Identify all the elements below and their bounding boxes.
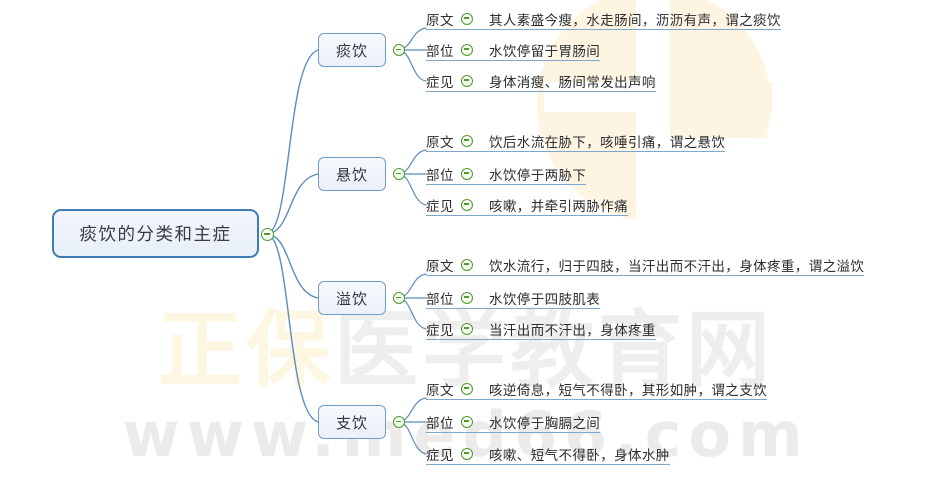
leaf-toggle-slot: [461, 323, 473, 335]
leaf-collapse-toggle[interactable]: [461, 13, 473, 25]
leaf-row[interactable]: 部位 水饮停于两胁下: [426, 163, 586, 185]
leaf-value: 饮水流行，归于四肢，当汗出而不汗出，身体疼重，谓之溢饮: [489, 255, 864, 275]
leaf-collapse-toggle[interactable]: [461, 323, 473, 335]
leaf-row[interactable]: 部位 水饮停于四肢肌表: [426, 287, 600, 309]
leaf-collapse-toggle[interactable]: [461, 416, 473, 428]
leaf-row[interactable]: 原文 饮后水流在胁下，咳唾引痛，谓之悬饮: [426, 130, 725, 152]
leaf-row[interactable]: 原文 其人素盛今瘦，水走肠间，沥沥有声，谓之痰饮: [426, 8, 781, 30]
leaf-value: 当汗出而不汗出，身体疼重: [489, 319, 656, 339]
leaf-value: 身体消瘦、肠间常发出声响: [489, 71, 656, 91]
leaf-row[interactable]: 部位 水饮停留于胃肠间: [426, 39, 600, 61]
leaf-key: 症见: [426, 195, 454, 215]
mindmap-canvas: 正保医学教育网 www.med66.com: [0, 0, 932, 480]
root-collapse-toggle[interactable]: [261, 228, 274, 241]
leaf-toggle-slot: [461, 448, 473, 460]
leaf-key: 部位: [426, 288, 454, 308]
branch-node-4[interactable]: 支饮: [318, 405, 386, 439]
leaf-value: 咳嗽，并牵引两胁作痛: [489, 195, 628, 215]
leaf-value: 水饮停留于胃肠间: [489, 40, 600, 60]
leaf-value: 咳嗽、短气不得卧，身体水肿: [489, 444, 670, 464]
leaf-key: 原文: [426, 131, 454, 151]
branch-1-collapse-toggle[interactable]: [393, 44, 405, 56]
branch-node-label: 痰饮: [336, 40, 368, 61]
node-layer: 痰饮的分类和主症 痰饮 原文 其人素盛今瘦，水走肠间，沥沥有声，谓之痰饮 部位 …: [0, 0, 932, 480]
root-node-label: 痰饮的分类和主症: [80, 221, 232, 246]
leaf-toggle-slot: [461, 75, 473, 87]
leaf-collapse-toggle[interactable]: [461, 448, 473, 460]
branch-3-collapse-toggle[interactable]: [393, 292, 405, 304]
leaf-toggle-slot: [461, 135, 473, 147]
branch-node-label: 悬饮: [336, 164, 368, 185]
leaf-key: 症见: [426, 444, 454, 464]
leaf-toggle-slot: [461, 168, 473, 180]
leaf-toggle-slot: [461, 13, 473, 25]
leaf-row[interactable]: 部位 水饮停于胸膈之间: [426, 411, 600, 433]
leaf-key: 原文: [426, 9, 454, 29]
leaf-value: 水饮停于两胁下: [489, 164, 586, 184]
branch-node-label: 支饮: [336, 412, 368, 433]
branch-node-3[interactable]: 溢饮: [318, 281, 386, 315]
branch-node-2[interactable]: 悬饮: [318, 157, 386, 191]
leaf-toggle-slot: [461, 199, 473, 211]
leaf-row[interactable]: 症见 身体消瘦、肠间常发出声响: [426, 70, 656, 92]
leaf-value: 其人素盛今瘦，水走肠间，沥沥有声，谓之痰饮: [489, 9, 781, 29]
leaf-key: 症见: [426, 71, 454, 91]
leaf-row[interactable]: 症见 咳嗽，并牵引两胁作痛: [426, 194, 628, 216]
leaf-key: 部位: [426, 412, 454, 432]
leaf-collapse-toggle[interactable]: [461, 135, 473, 147]
branch-node-label: 溢饮: [336, 288, 368, 309]
leaf-value: 咳逆倚息，短气不得卧，其形如肿，谓之支饮: [489, 379, 767, 399]
leaf-toggle-slot: [461, 292, 473, 304]
leaf-collapse-toggle[interactable]: [461, 44, 473, 56]
leaf-collapse-toggle[interactable]: [461, 383, 473, 395]
leaf-collapse-toggle[interactable]: [461, 75, 473, 87]
leaf-row[interactable]: 症见 当汗出而不汗出，身体疼重: [426, 318, 656, 340]
leaf-value: 水饮停于胸膈之间: [489, 412, 600, 432]
leaf-toggle-slot: [461, 44, 473, 56]
leaf-collapse-toggle[interactable]: [461, 259, 473, 271]
leaf-row[interactable]: 症见 咳嗽、短气不得卧，身体水肿: [426, 443, 670, 465]
leaf-collapse-toggle[interactable]: [461, 168, 473, 180]
branch-2-collapse-toggle[interactable]: [393, 168, 405, 180]
leaf-toggle-slot: [461, 383, 473, 395]
leaf-key: 部位: [426, 40, 454, 60]
root-node[interactable]: 痰饮的分类和主症: [52, 209, 259, 258]
leaf-value: 水饮停于四肢肌表: [489, 288, 600, 308]
leaf-key: 症见: [426, 319, 454, 339]
leaf-row[interactable]: 原文 饮水流行，归于四肢，当汗出而不汗出，身体疼重，谓之溢饮: [426, 254, 864, 276]
leaf-key: 原文: [426, 379, 454, 399]
leaf-key: 部位: [426, 164, 454, 184]
leaf-toggle-slot: [461, 259, 473, 271]
leaf-collapse-toggle[interactable]: [461, 292, 473, 304]
leaf-collapse-toggle[interactable]: [461, 199, 473, 211]
leaf-key: 原文: [426, 255, 454, 275]
branch-4-collapse-toggle[interactable]: [393, 416, 405, 428]
branch-node-1[interactable]: 痰饮: [318, 33, 386, 67]
leaf-toggle-slot: [461, 416, 473, 428]
leaf-row[interactable]: 原文 咳逆倚息，短气不得卧，其形如肿，谓之支饮: [426, 378, 767, 400]
leaf-value: 饮后水流在胁下，咳唾引痛，谓之悬饮: [489, 131, 725, 151]
